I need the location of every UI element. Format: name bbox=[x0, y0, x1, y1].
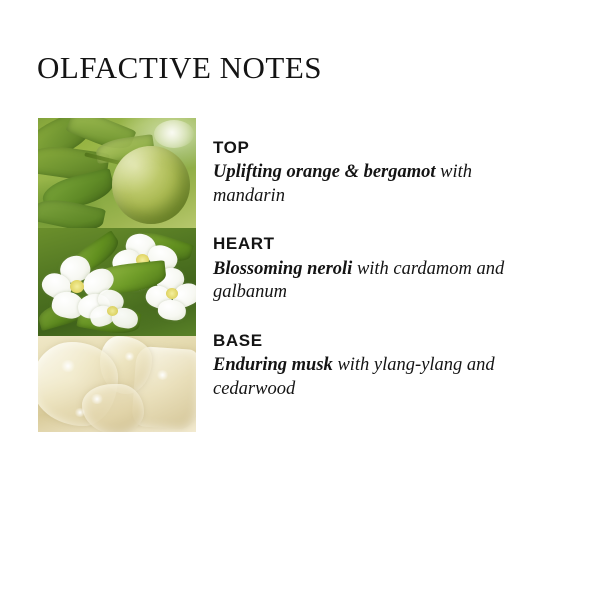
note-lead-top: Uplifting orange & bergamot bbox=[213, 162, 436, 182]
background-blossom-shape bbox=[154, 120, 194, 148]
note-block-top: TOP Uplifting orange & bergamot with man… bbox=[213, 138, 513, 208]
sparkle-highlight bbox=[156, 370, 169, 380]
sparkle-highlight bbox=[60, 360, 76, 372]
blossom-flower-shape bbox=[90, 290, 138, 334]
note-lead-base: Enduring musk bbox=[213, 355, 333, 375]
note-heading-heart: HEART bbox=[213, 234, 513, 254]
note-heading-base: BASE bbox=[213, 331, 513, 351]
citrus-fruit-shape bbox=[112, 146, 190, 224]
neroli-blossom-photo bbox=[38, 228, 196, 336]
note-lead-heart: Blossoming neroli bbox=[213, 259, 352, 279]
note-block-heart: HEART Blossoming neroli with cardamom an… bbox=[213, 234, 513, 304]
resin-photo bbox=[38, 336, 196, 432]
sparkle-highlight bbox=[124, 352, 135, 361]
crystal-shape bbox=[82, 384, 144, 432]
note-block-base: BASE Enduring musk with ylang-ylang and … bbox=[213, 331, 513, 401]
olfactive-notes-list: TOP Uplifting orange & bergamot with man… bbox=[213, 138, 513, 401]
sparkle-highlight bbox=[90, 394, 104, 404]
note-description-base: Enduring musk with ylang-ylang and cedar… bbox=[213, 354, 513, 401]
note-description-top: Uplifting orange & bergamot with mandari… bbox=[213, 161, 513, 208]
olfactive-notes-page: OLFACTIVE NOTES bbox=[0, 0, 600, 600]
page-title: OLFACTIVE NOTES bbox=[37, 52, 322, 83]
note-heading-top: TOP bbox=[213, 138, 513, 158]
note-description-heart: Blossoming neroli with cardamom and galb… bbox=[213, 258, 513, 305]
fragrance-image-stack bbox=[38, 118, 196, 432]
sparkle-highlight bbox=[74, 408, 86, 417]
citrus-photo bbox=[38, 118, 196, 228]
